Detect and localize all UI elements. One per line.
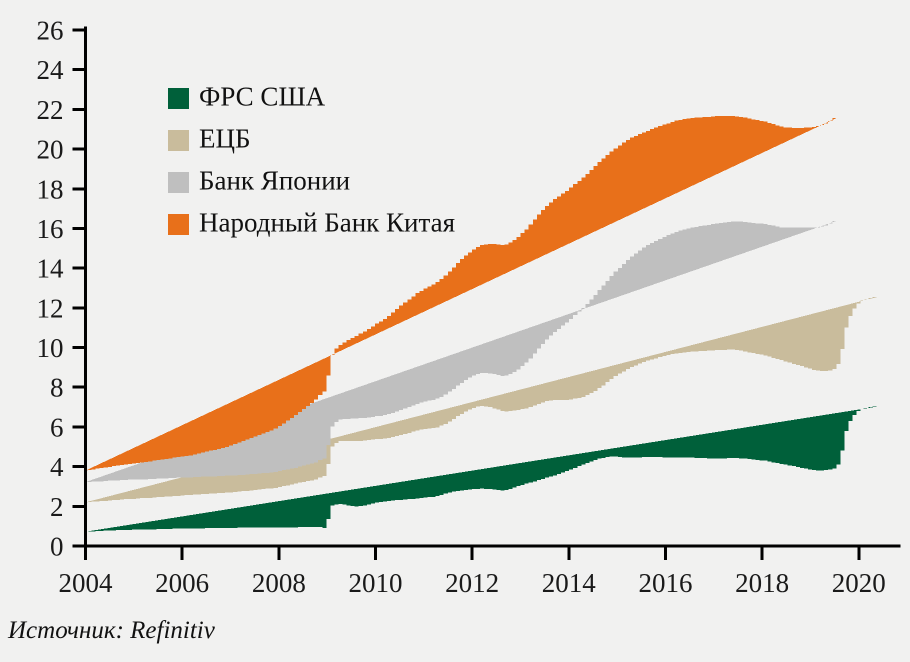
legend-label-boj: Банк Японии bbox=[199, 166, 350, 196]
x-tick-label: 2008 bbox=[252, 568, 306, 598]
y-tick-label: 6 bbox=[50, 412, 64, 442]
y-tick-label: 18 bbox=[37, 174, 64, 204]
y-tick-label: 12 bbox=[37, 293, 64, 323]
y-tick-label: 2 bbox=[50, 492, 64, 522]
x-tick-label: 2010 bbox=[348, 568, 402, 598]
stacked-area-chart: 02468101214161820222426 2004200620082010… bbox=[0, 0, 910, 662]
x-tick-label: 2006 bbox=[155, 568, 209, 598]
y-tick-label: 14 bbox=[37, 254, 65, 284]
source-caption: Источник: Refinitiv bbox=[7, 617, 216, 644]
y-tick-label: 22 bbox=[37, 95, 64, 125]
legend-label-fed: ФРС США bbox=[199, 82, 326, 112]
legend-swatch-pboc bbox=[168, 214, 189, 235]
x-axis-tick-labels: 200420062008201020122014201620182020 bbox=[59, 568, 886, 598]
y-tick-label: 10 bbox=[37, 333, 64, 363]
y-tick-label: 8 bbox=[50, 373, 64, 403]
legend-swatch-fed bbox=[168, 88, 189, 109]
x-tick-label: 2012 bbox=[445, 568, 499, 598]
x-tick-label: 2020 bbox=[832, 568, 886, 598]
y-tick-label: 26 bbox=[37, 16, 64, 46]
legend-label-pboc: Народный Банк Китая bbox=[199, 208, 455, 238]
chart-container: 02468101214161820222426 2004200620082010… bbox=[0, 0, 910, 662]
x-tick-label: 2018 bbox=[735, 568, 789, 598]
y-tick-label: 20 bbox=[37, 135, 64, 165]
legend-label-ecb: ЕЦБ bbox=[199, 124, 251, 154]
x-tick-label: 2004 bbox=[59, 568, 114, 598]
y-tick-label: 0 bbox=[50, 532, 64, 562]
legend-swatch-ecb bbox=[168, 130, 189, 151]
legend-swatch-boj bbox=[168, 172, 189, 193]
x-tick-label: 2016 bbox=[638, 568, 692, 598]
x-tick-label: 2014 bbox=[542, 568, 597, 598]
y-tick-label: 24 bbox=[37, 55, 65, 85]
y-tick-label: 16 bbox=[37, 214, 64, 244]
y-tick-label: 4 bbox=[50, 452, 64, 482]
